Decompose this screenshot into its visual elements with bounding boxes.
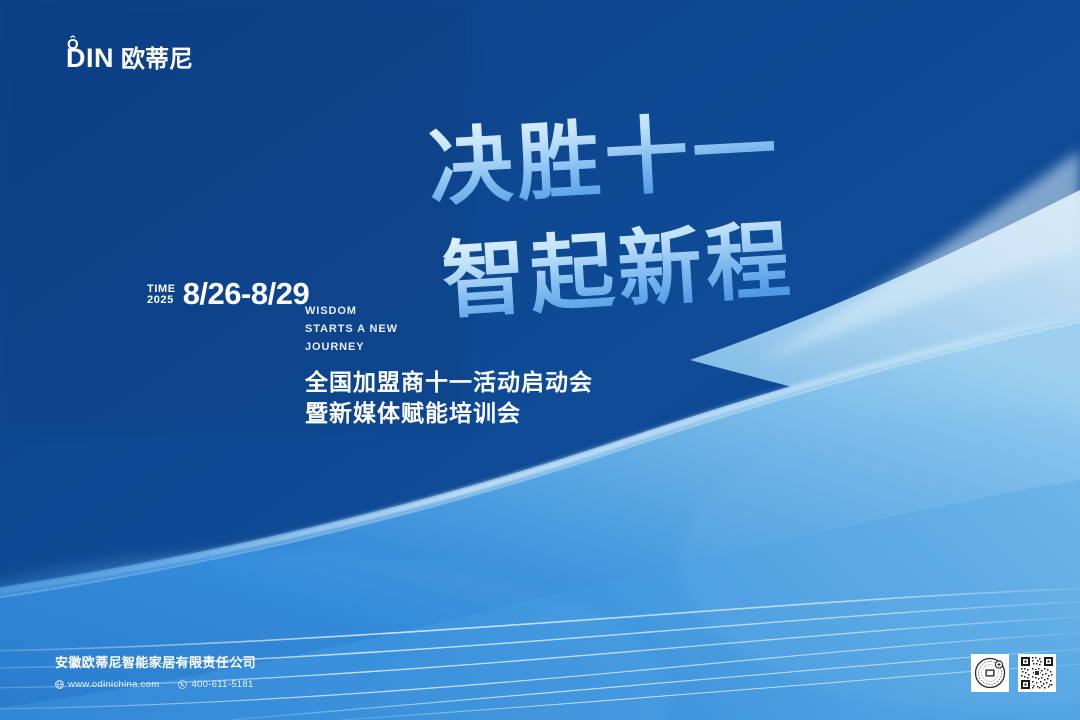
logo-circumflex-icon: Ô — [67, 37, 79, 52]
company-name: 安徽欧蒂尼智能家居有限责任公司 — [55, 657, 256, 670]
headline-line-2: 智起新程 — [439, 210, 797, 331]
logo-wordmark-chinese: 欧蒂尼 — [121, 47, 193, 71]
brand-logo: Ô DIN 欧蒂尼 — [66, 45, 193, 72]
event-subtitle: 全国加盟商十一活动启动会 暨新媒体赋能培训会 — [305, 368, 593, 430]
contact-row: www.odinichina.com 400-611-5181 — [55, 679, 256, 690]
event-date: TIME 2025 8/26-8/29 — [147, 278, 309, 309]
subtitle-line-1: 全国加盟商十一活动启动会 — [305, 368, 593, 399]
date-label: TIME 2025 — [147, 282, 176, 306]
website-text: www.odinichina.com — [68, 679, 159, 690]
qr-code[interactable] — [1018, 654, 1056, 692]
date-label-year: 2025 — [147, 295, 176, 306]
phone-text: 400-611-5181 — [191, 679, 253, 690]
website-contact[interactable]: www.odinichina.com — [55, 679, 159, 690]
tagline-line-2: STARTS A NEW — [305, 320, 398, 338]
wechat-official-account-code[interactable] — [971, 654, 1009, 692]
tagline-line-1: WISDOM — [305, 302, 398, 320]
phone-contact[interactable]: 400-611-5181 — [178, 679, 253, 690]
subtitle-line-2: 暨新媒体赋能培训会 — [305, 399, 593, 430]
event-poster: Ô DIN 欧蒂尼 决胜十一 智起新程 TIME 2025 8/26-8/29 … — [0, 0, 1080, 720]
footer: 安徽欧蒂尼智能家居有限责任公司 www.odinichina.com 400-6… — [55, 657, 256, 690]
globe-icon — [55, 680, 64, 689]
headline-calligraphy: 决胜十一 智起新程 — [425, 96, 925, 346]
logo-wordmark-latin: Ô DIN — [66, 45, 114, 72]
tagline-line-3: JOURNEY — [305, 338, 398, 356]
code-group — [971, 654, 1056, 692]
english-tagline: WISDOM STARTS A NEW JOURNEY — [305, 302, 398, 356]
phone-icon — [178, 680, 187, 689]
date-range: 8/26-8/29 — [183, 278, 310, 309]
headline-line-1: 决胜十一 — [426, 99, 783, 217]
date-label-time: TIME — [147, 284, 176, 295]
